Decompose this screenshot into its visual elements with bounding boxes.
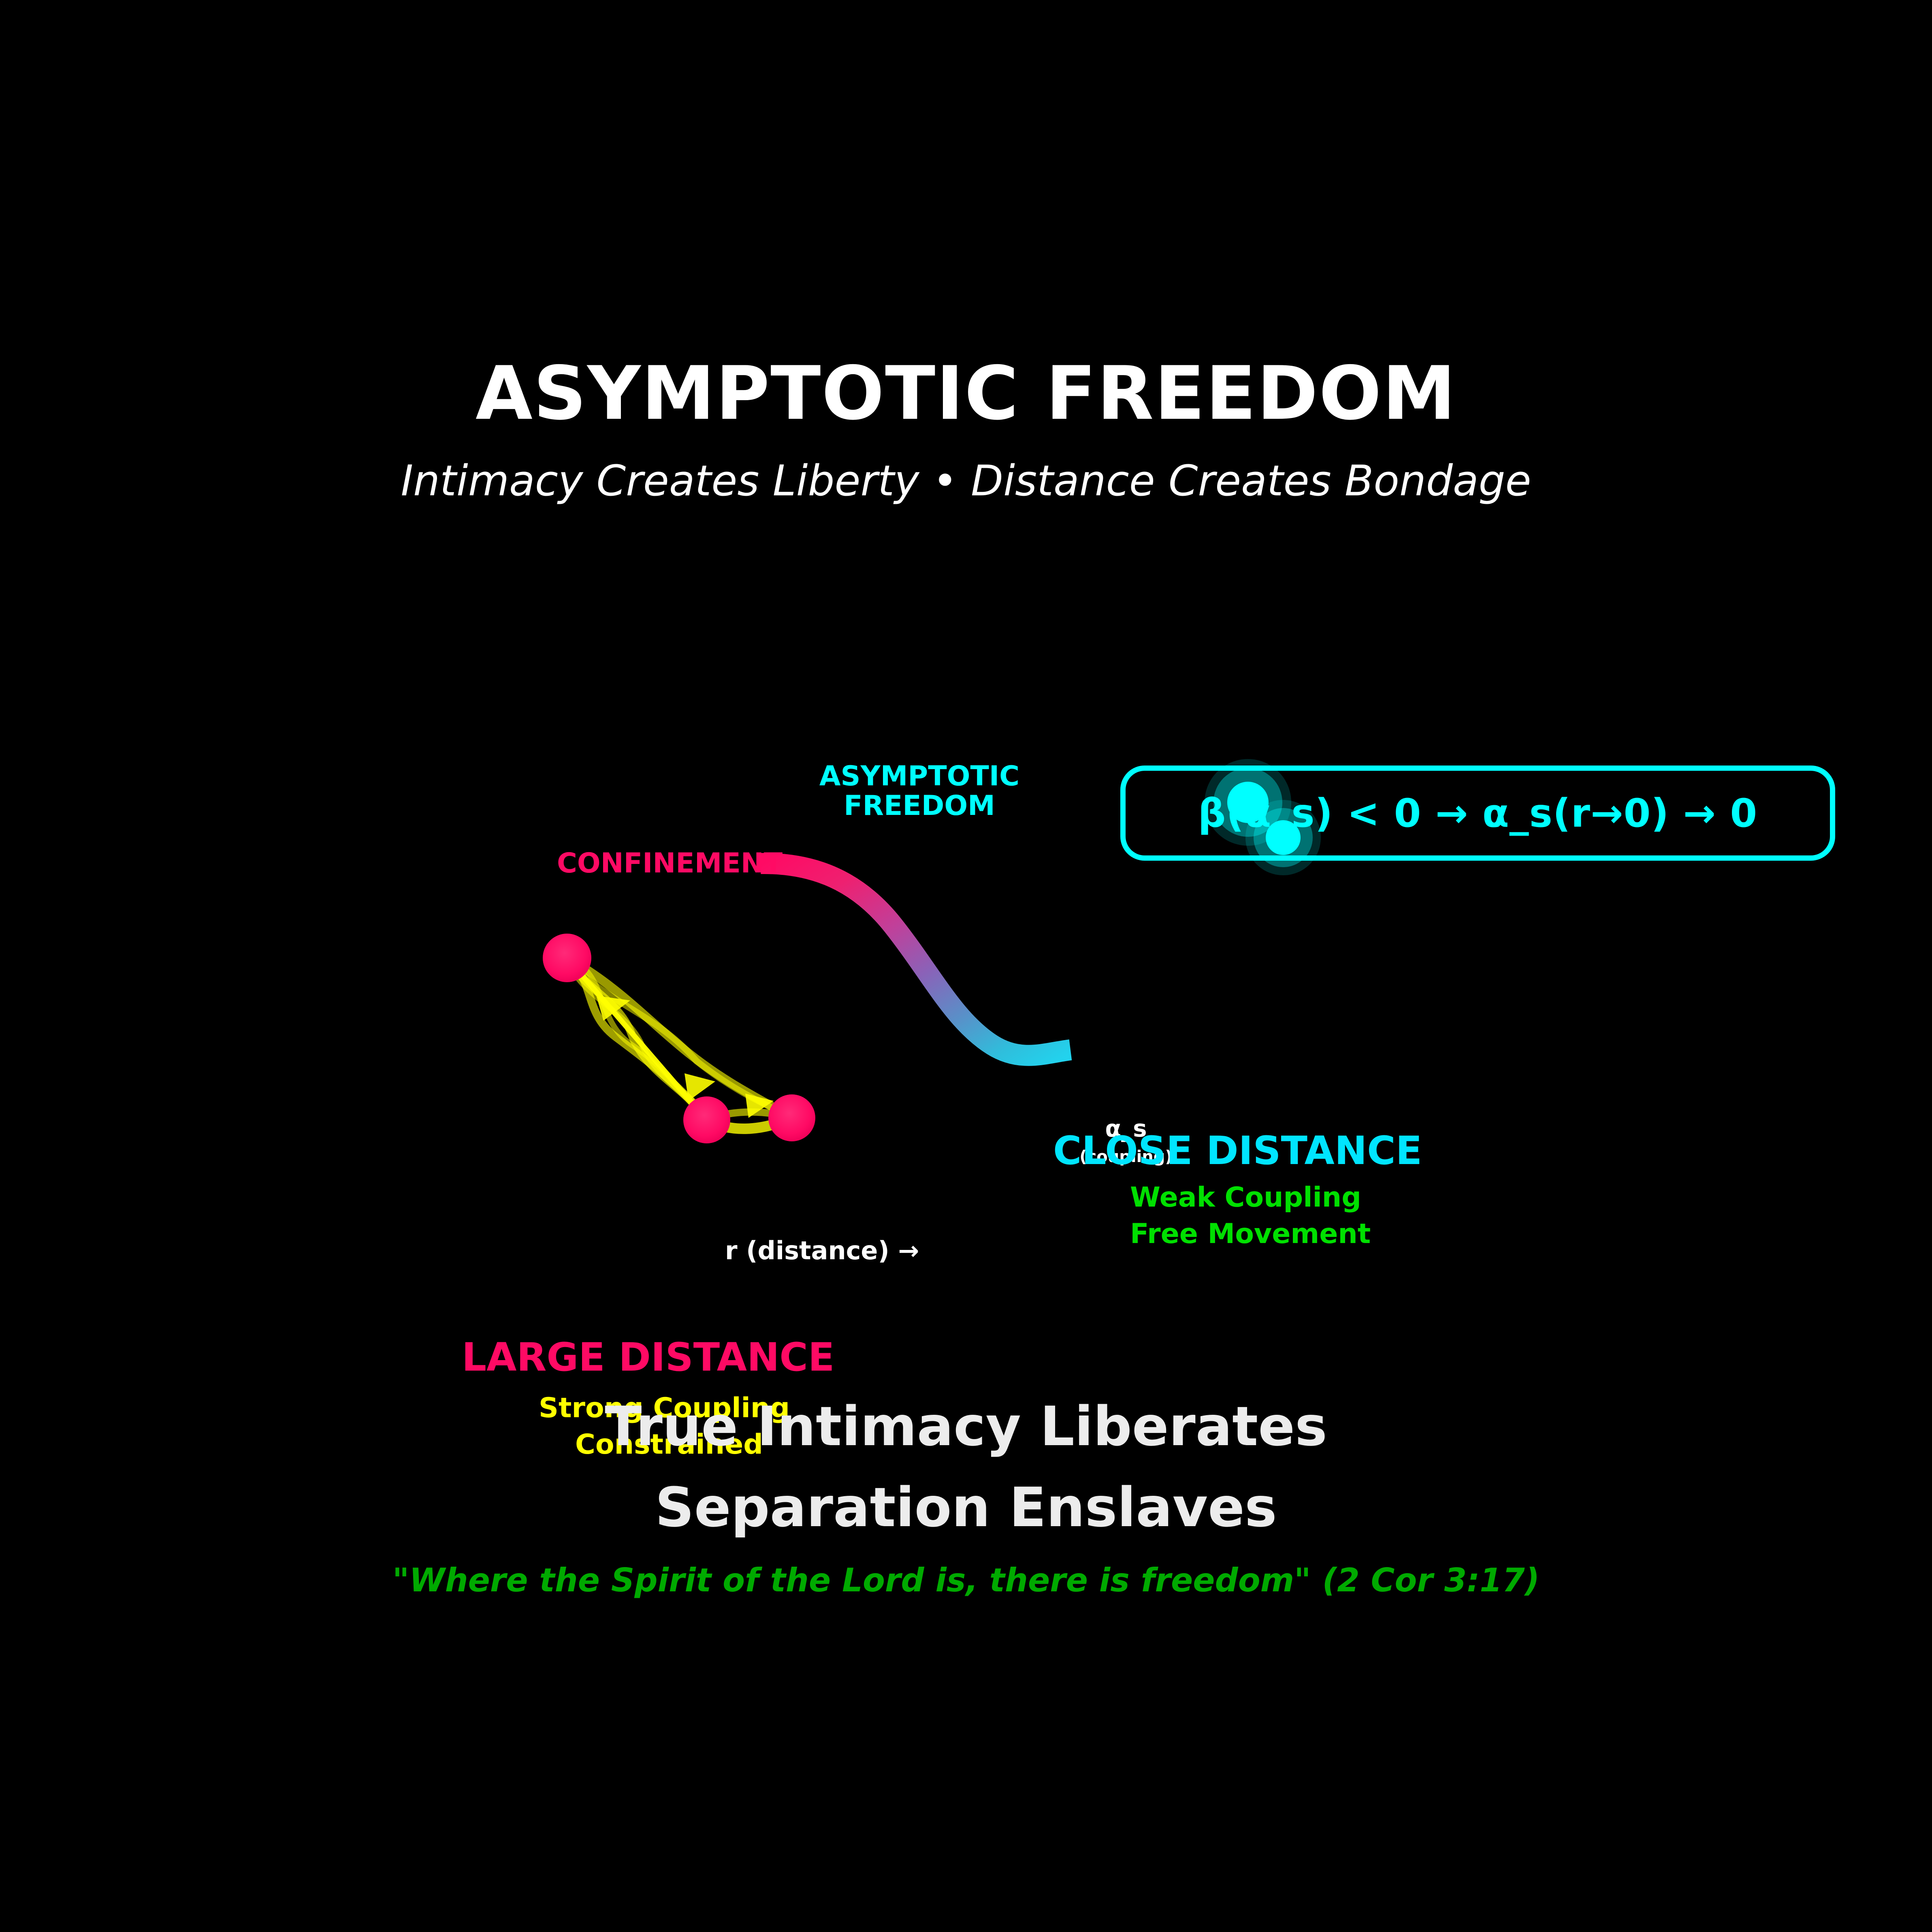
quark-dot	[543, 934, 591, 982]
quark-dot	[683, 1096, 730, 1143]
label-asymptotic-freedom: ASYMPTOTIC FREEDOM	[794, 761, 1045, 821]
tagline-line-1: True Intimacy Liberates	[0, 1399, 1932, 1454]
glow-quark-dot-b	[1266, 820, 1301, 855]
label-weak-coupling: Weak Coupling	[1130, 1183, 1361, 1212]
x-axis-label: r (distance) →	[725, 1237, 919, 1265]
equation-text: β(α_s) < 0 → α_s(r→0) → 0	[1120, 766, 1835, 861]
tagline-line-2: Separation Enslaves	[0, 1480, 1932, 1535]
label-free-movement: Free Movement	[1130, 1219, 1371, 1249]
label-large-distance: LARGE DISTANCE	[462, 1337, 834, 1379]
glow-quark-dot-a	[1227, 782, 1269, 823]
quark-dot	[768, 1094, 815, 1141]
poster-canvas: ASYMPTOTIC FREEDOM Intimacy Creates Libe…	[0, 0, 1932, 1932]
label-confinement: CONFINEMENT	[557, 849, 783, 878]
qcd-diagram	[0, 0, 1932, 1932]
quarks-group	[543, 934, 815, 1143]
label-close-distance: CLOSE DISTANCE	[1053, 1130, 1422, 1172]
scripture-quote: "Where the Spirit of the Lord is, there …	[0, 1561, 1932, 1599]
coupling-curve	[761, 864, 1070, 1056]
coupling-curve-group	[761, 864, 1070, 1056]
